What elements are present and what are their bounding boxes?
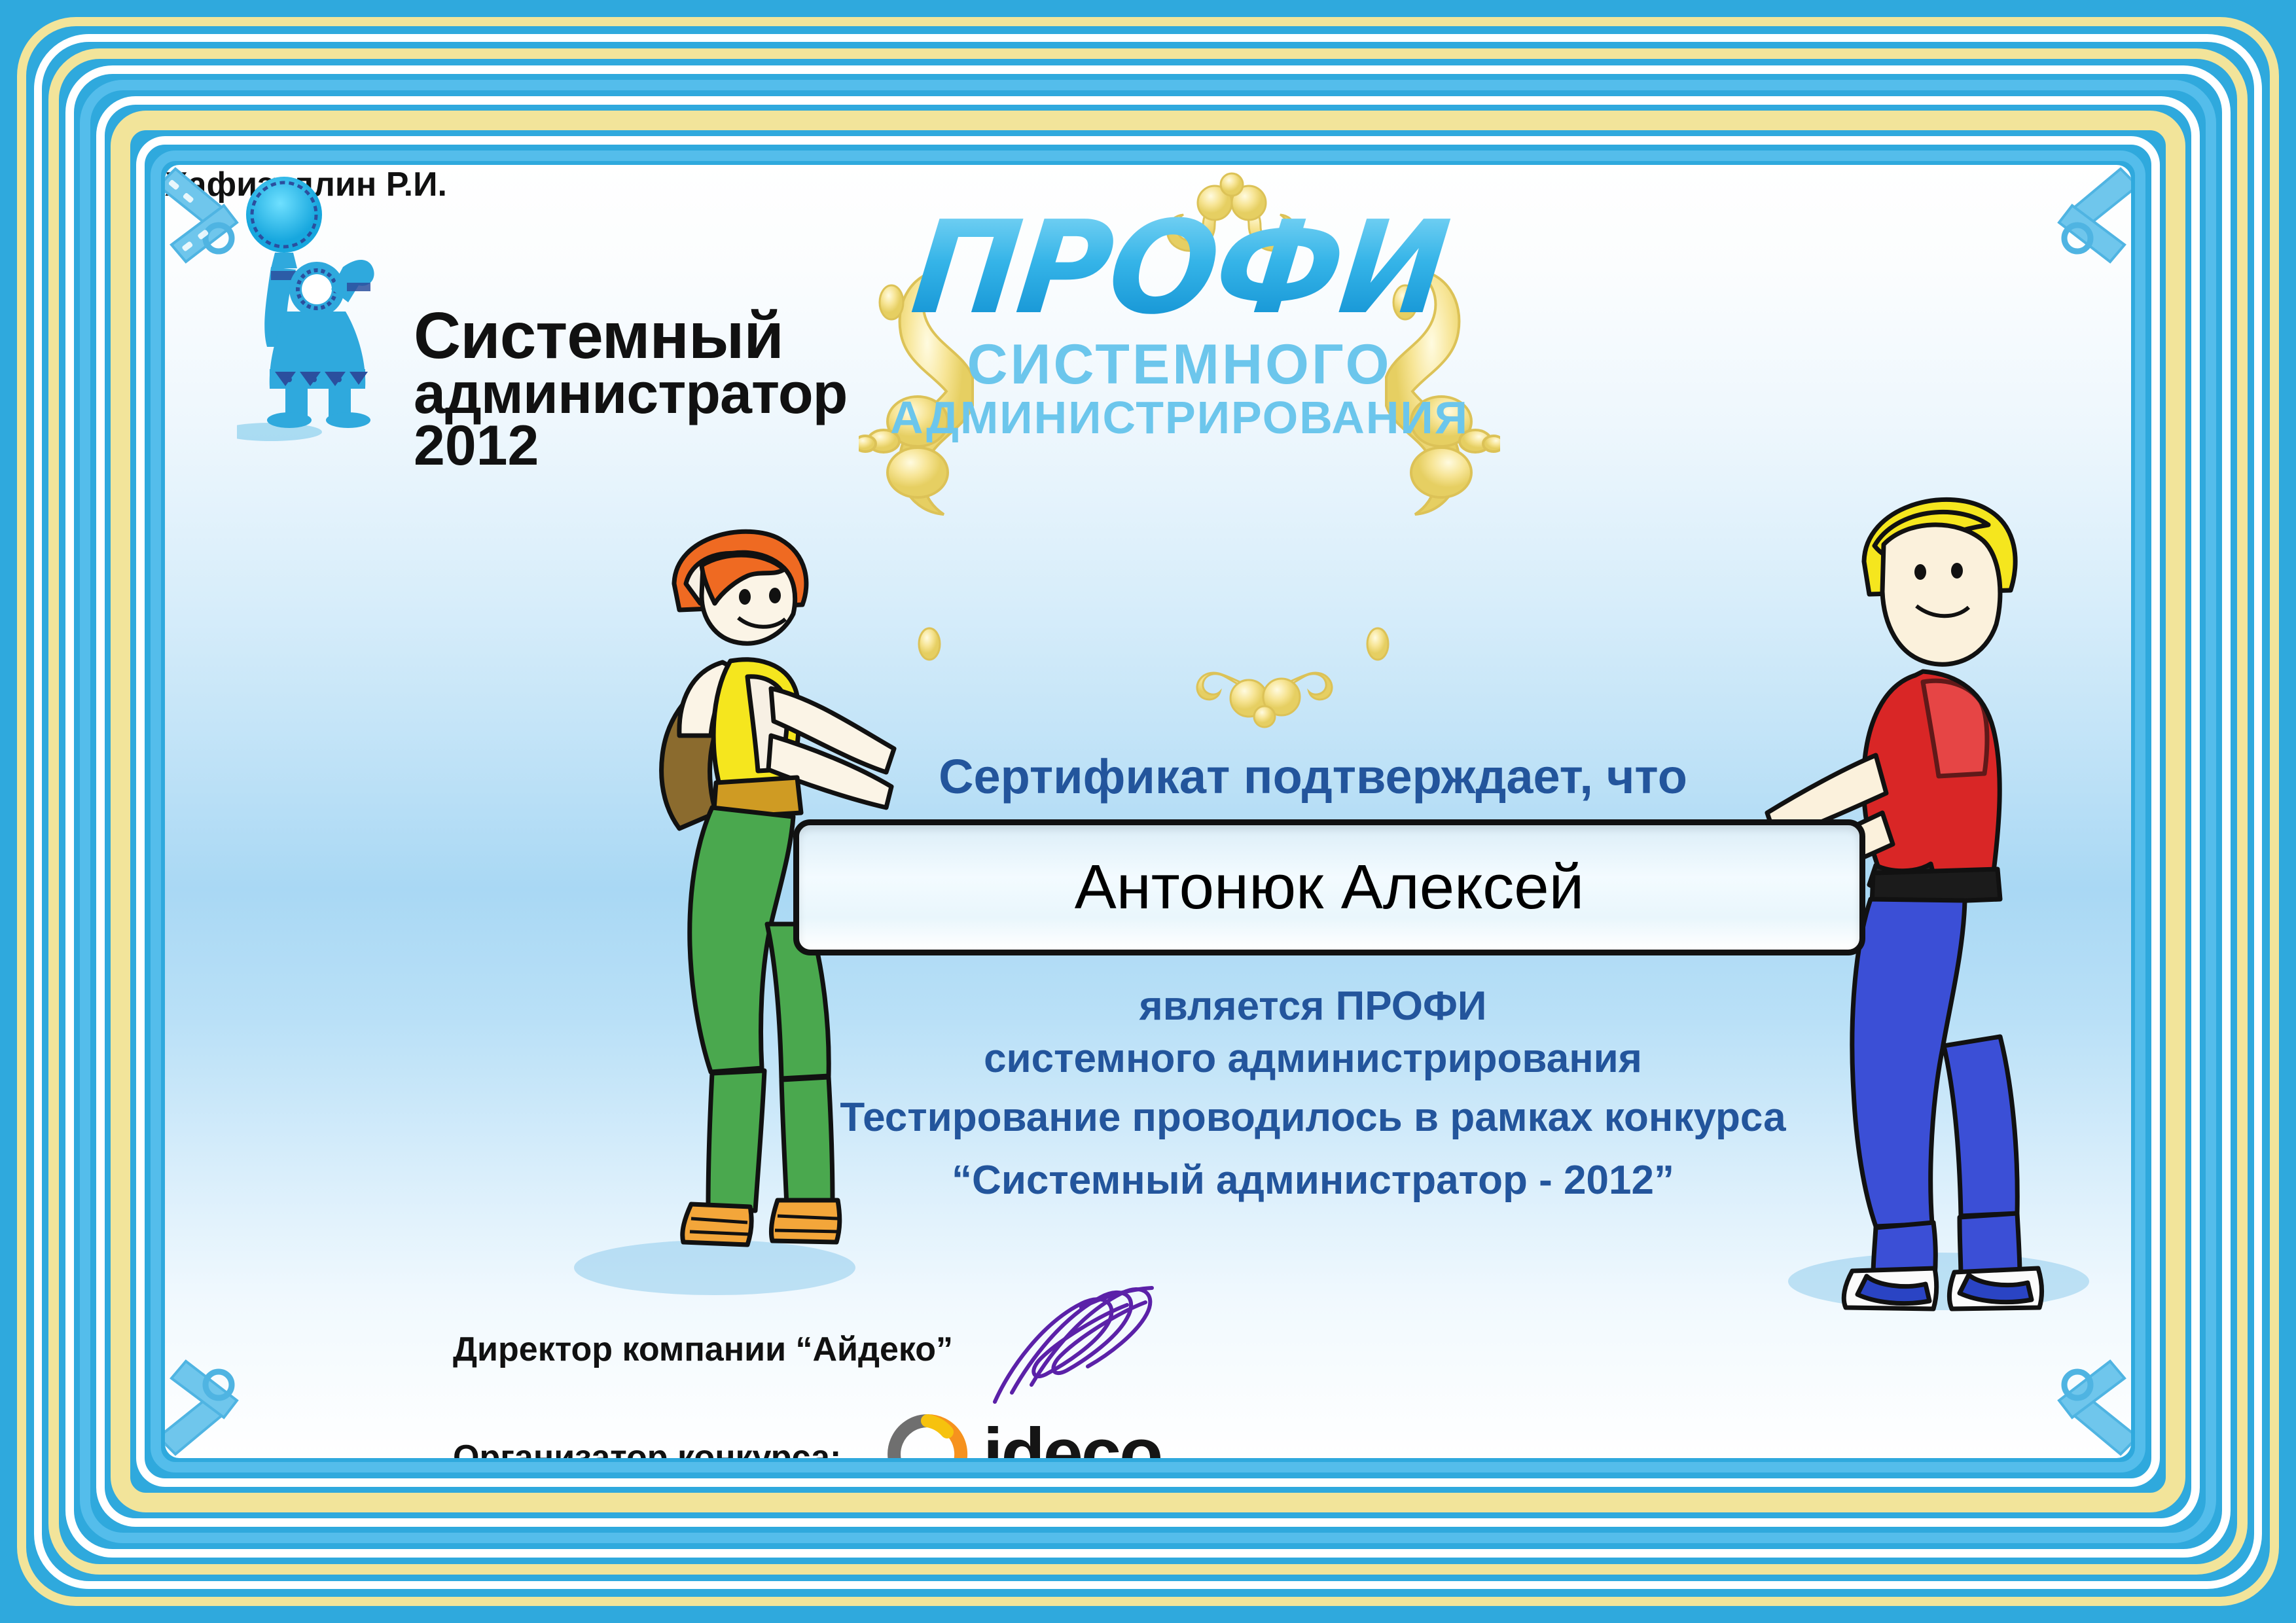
golden-dot-ornament-icon: [914, 623, 944, 665]
headline-sub-2: АДМИНИСТРИРОВАНИЯ: [819, 394, 1539, 442]
ideco-ring-icon: [885, 1412, 970, 1458]
logo-line-1: Системный: [414, 306, 872, 366]
confirmation-text: Сертификат подтверждает, что: [165, 749, 2131, 804]
certificate-body: Системный администратор 2012: [165, 165, 2131, 1458]
logo-line-2: администратор: [414, 366, 872, 420]
golden-flourish-ornament-icon: [1166, 652, 1363, 731]
body-line-4: “Системный администратор - 2012”: [165, 1157, 2131, 1204]
body-line-1: является ПРОФИ: [165, 983, 2131, 1029]
headline-block: ПРОФИ СИСТЕМНОГО АДМИНИСТРИРОВАНИЯ: [819, 204, 1539, 442]
golden-dot-ornament-icon: [1363, 623, 1393, 665]
recipient-name-plate: Антонюк Алексей: [793, 819, 1865, 955]
headline-sub-1: СИСТЕМНОГО: [819, 335, 1539, 394]
recipient-name: Антонюк Алексей: [1075, 851, 1585, 923]
organizer-label: Организатор конкурса:: [453, 1438, 841, 1458]
director-label: Директор компании “Айдеко”: [453, 1330, 953, 1369]
ideco-wordmark: ideco: [983, 1418, 1161, 1458]
sysadmin-logo-title: Системный администратор 2012: [414, 306, 872, 473]
body-line-2: системного администрирования: [165, 1035, 2131, 1082]
logo-line-3: 2012: [414, 420, 872, 473]
headline-profi: ПРОФИ: [813, 204, 1547, 332]
cable-plug-ornament-icon: [165, 1287, 342, 1458]
body-line-3: Тестирование проводилось в рамках конкур…: [165, 1094, 2131, 1141]
ideco-logo: ideco: [885, 1405, 1225, 1458]
certificate-page: Системный администратор 2012: [0, 0, 2296, 1623]
eskimo-mascot-icon: [237, 171, 414, 446]
handwritten-signature-icon: [983, 1277, 1206, 1408]
